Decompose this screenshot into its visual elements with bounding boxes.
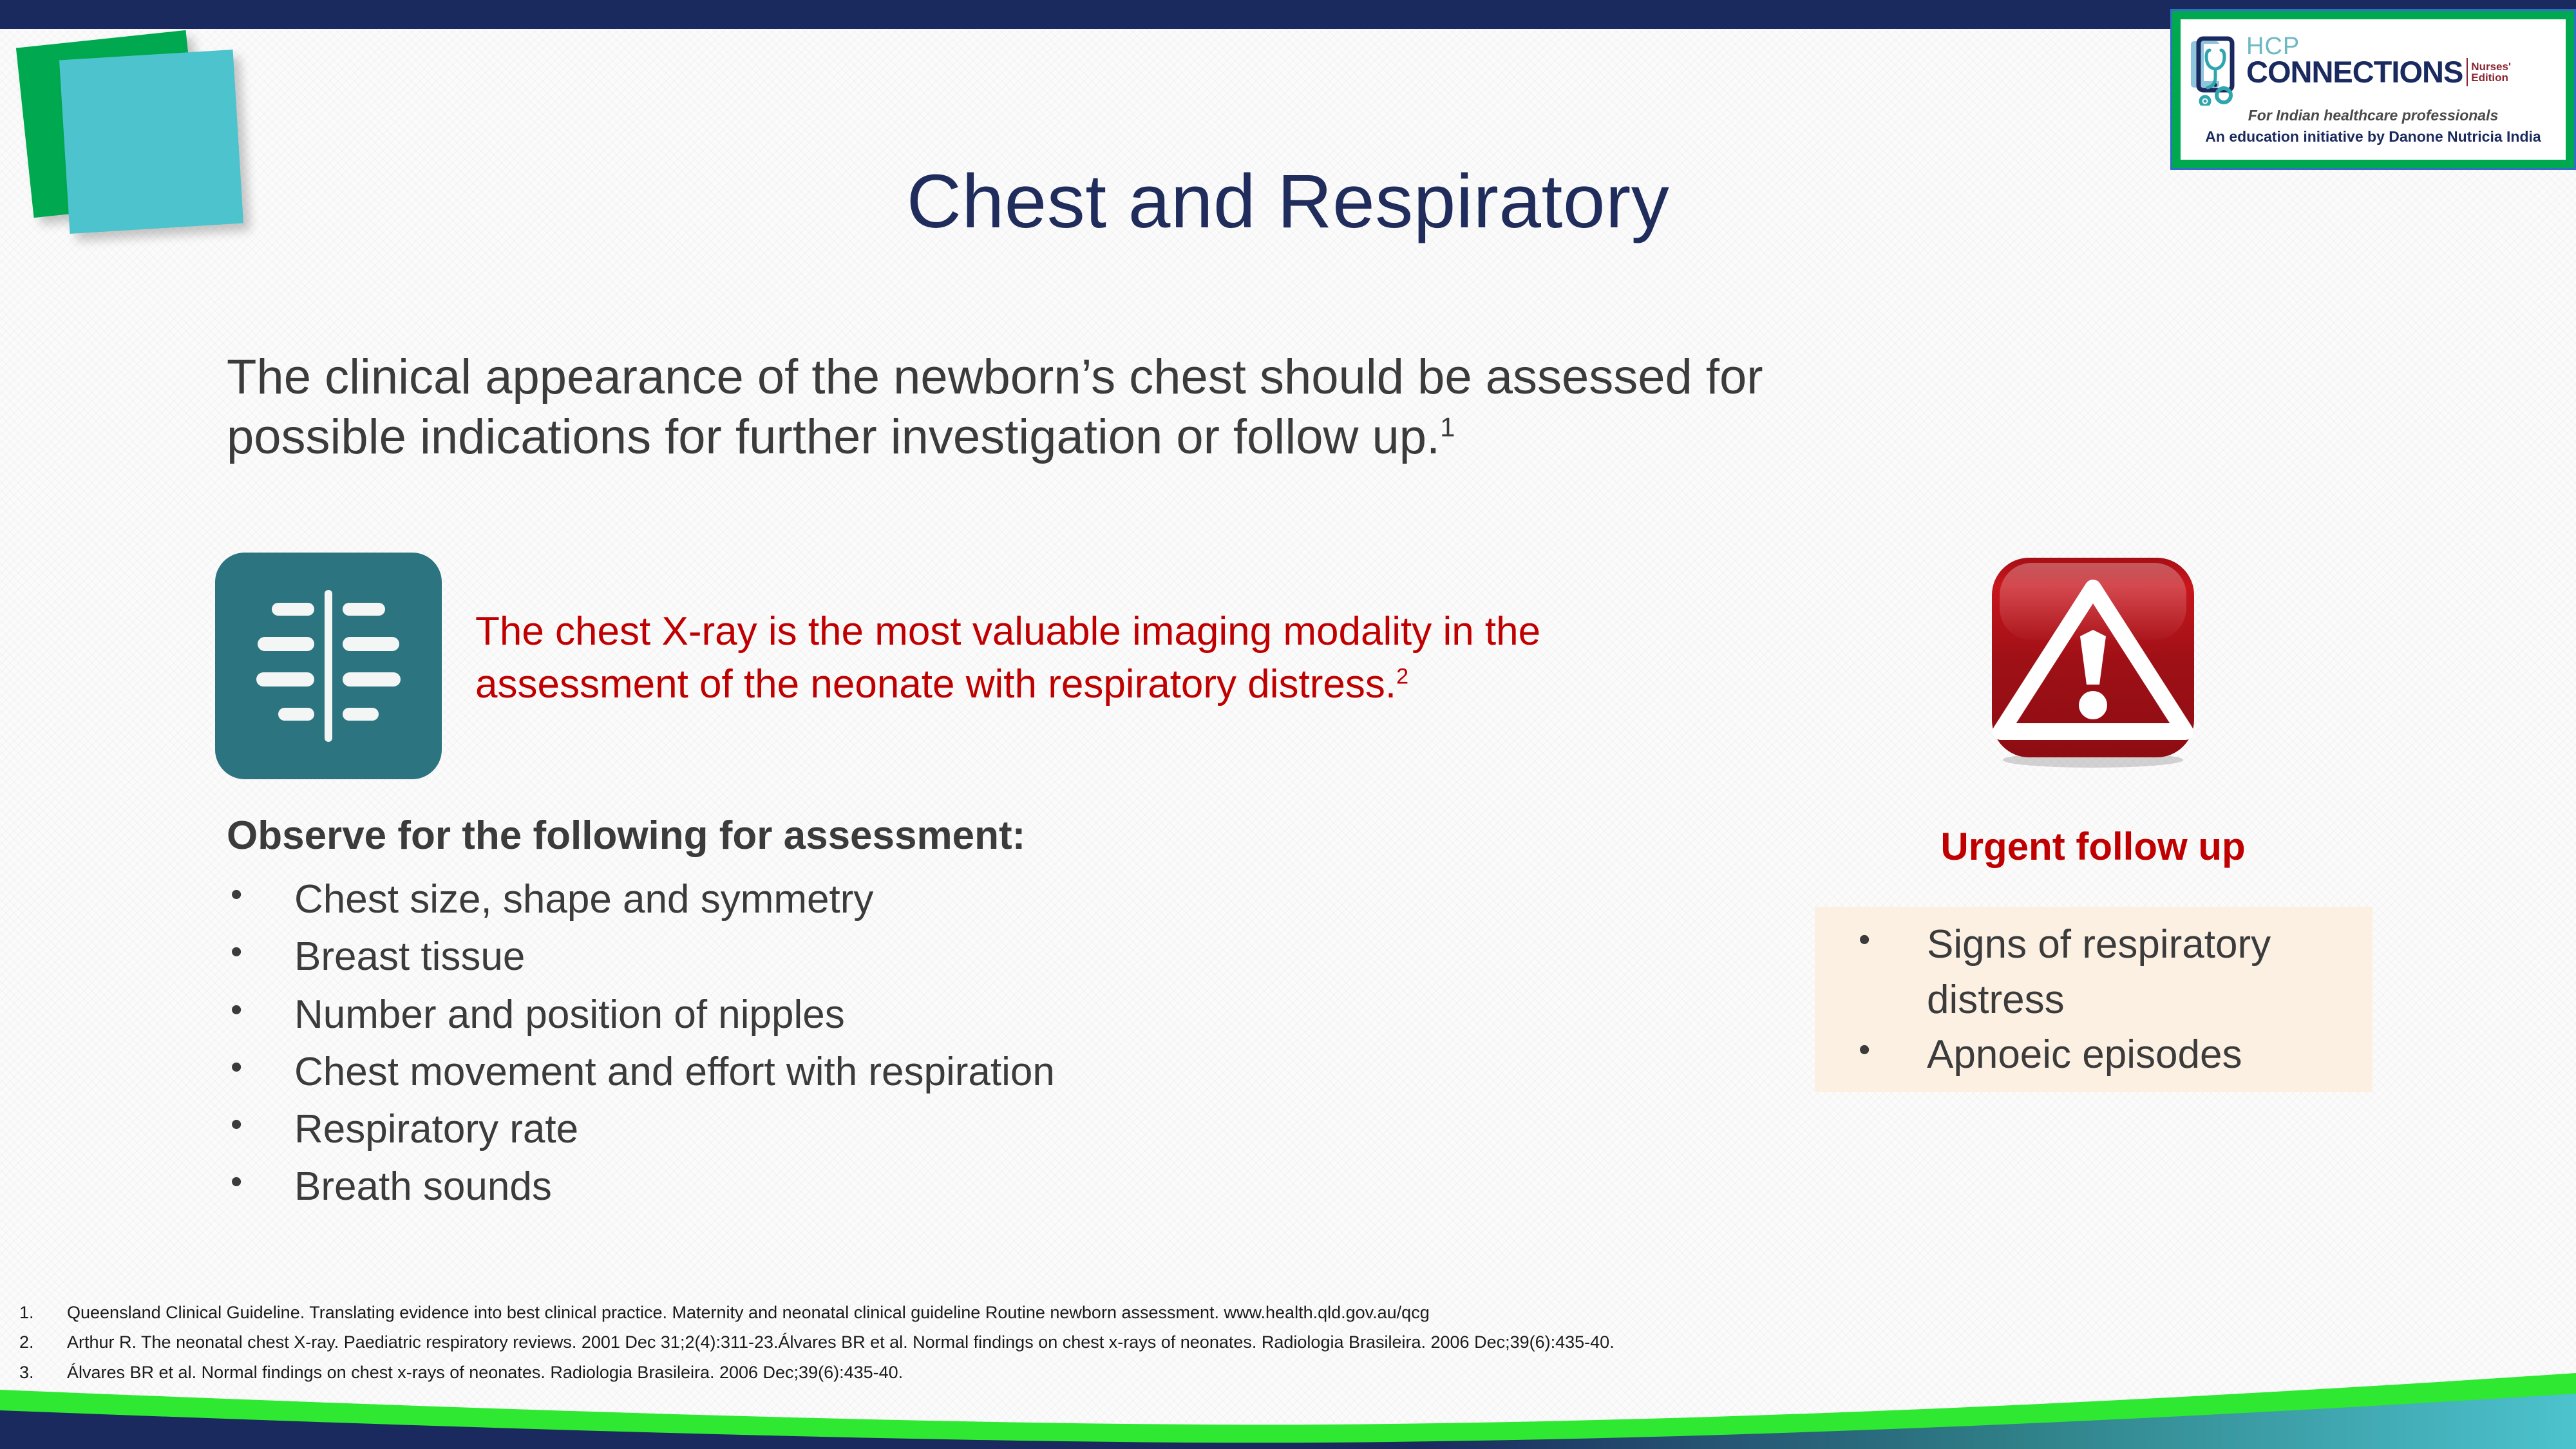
- ribcage-icon: [215, 553, 442, 779]
- logo-nurses-line2: Edition: [2471, 71, 2508, 84]
- list-item: Chest movement and effort with respirati…: [227, 1043, 1579, 1101]
- xray-callout-text: The chest X-ray is the most valuable ima…: [475, 609, 1540, 706]
- logo-connections-row: CONNECTIONS Nurses' Edition: [2246, 58, 2557, 87]
- page-title: Chest and Respiratory: [0, 158, 2576, 245]
- list-item: Apnoeic episodes: [1855, 1027, 2370, 1083]
- logo-tagline: For Indian healthcare professionals: [2190, 107, 2557, 124]
- urgent-follow-up-title: Urgent follow up: [1842, 824, 2344, 869]
- list-item: Respiratory rate: [227, 1101, 1579, 1158]
- intro-text: The clinical appearance of the newborn’s…: [227, 350, 1763, 464]
- logo-green-frame: HCP CONNECTIONS Nurses' Edition For Indi…: [2172, 11, 2574, 168]
- reference-item: Queensland Clinical Guideline. Translati…: [14, 1298, 2397, 1327]
- logo-wordmark: HCP CONNECTIONS Nurses' Edition: [2246, 35, 2557, 87]
- list-item: Breast tissue: [227, 928, 1579, 985]
- tablet-stethoscope-icon: [2190, 36, 2242, 106]
- observe-heading: Observe for the following for assessment…: [227, 813, 1025, 858]
- bottom-decorative-wave: [0, 1365, 2576, 1449]
- logo-divider: [2467, 58, 2468, 86]
- logo-top-row: HCP CONNECTIONS Nurses' Edition: [2190, 35, 2557, 106]
- list-item: Chest size, shape and symmetry: [227, 871, 1579, 928]
- reference-item: Arthur R. The neonatal chest X-ray. Paed…: [14, 1327, 2397, 1357]
- xray-callout: The chest X-ray is the most valuable ima…: [475, 605, 1699, 712]
- warning-alert-icon: [1980, 553, 2206, 772]
- hcp-connections-logo: HCP CONNECTIONS Nurses' Edition For Indi…: [2170, 9, 2576, 170]
- list-item: Breath sounds: [227, 1158, 1579, 1215]
- logo-initiative: An education initiative by Danone Nutric…: [2190, 128, 2557, 146]
- list-item: Number and position of nipples: [227, 986, 1579, 1043]
- slide-canvas: HCP CONNECTIONS Nurses' Edition For Indi…: [0, 0, 2576, 1449]
- list-item: Signs of respiratory distress: [1855, 917, 2370, 1027]
- urgent-follow-up-list: Signs of respiratory distress Apnoeic ep…: [1855, 917, 2370, 1083]
- logo-nurses-edition: Nurses' Edition: [2471, 61, 2511, 83]
- intro-superscript: 1: [1440, 412, 1455, 442]
- logo-connections-text: CONNECTIONS: [2246, 58, 2463, 87]
- intro-paragraph: The clinical appearance of the newborn’s…: [227, 348, 1901, 467]
- xray-callout-superscript: 2: [1396, 665, 1408, 689]
- observe-list: Chest size, shape and symmetry Breast ti…: [227, 871, 1579, 1216]
- logo-white-panel: HCP CONNECTIONS Nurses' Edition For Indi…: [2181, 19, 2566, 160]
